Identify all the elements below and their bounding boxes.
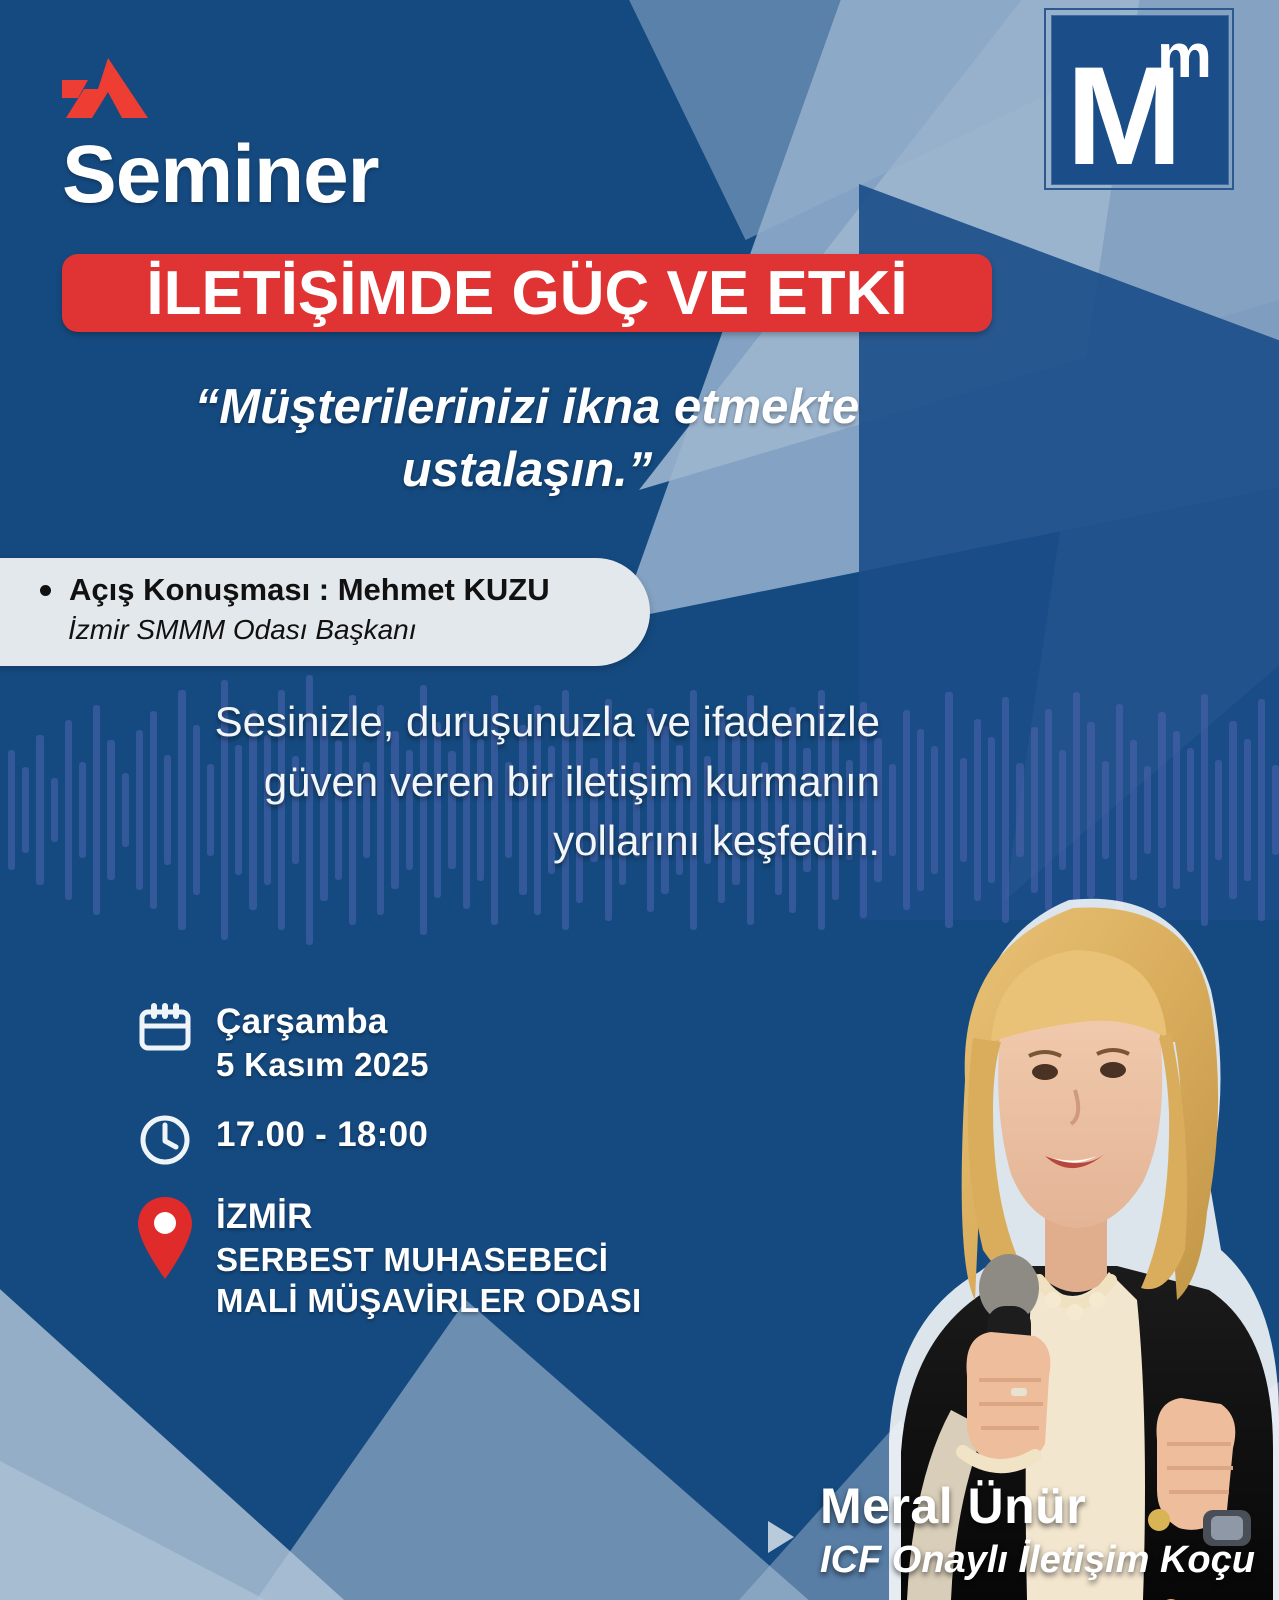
location-city: İZMİR [216,1195,642,1239]
page-kicker: Seminer [62,128,379,222]
organization-logo: M m [1044,8,1234,190]
opening-speech-subtitle: İzmir SMMM Odası Başkanı [0,614,650,646]
location-venue-line-2: MALİ MÜŞAVİRLER ODASI [216,1280,642,1321]
title-banner: İLETİŞİMDE GÜÇ VE ETKİ [62,254,992,332]
location-pin-icon [136,1195,194,1281]
time-range: 17.00 - 18:00 [216,1113,428,1157]
waveform-bar [22,767,29,853]
opening-speech-row: Açış Konuşması : Mehmet KUZU [0,572,650,608]
waveform-bar [36,735,43,885]
page-title: İLETİŞİMDE GÜÇ VE ETKİ [146,258,907,329]
description-text: Sesinizle, duruşunuzla ve ifadenizle güv… [70,692,880,871]
detail-text-date: Çarşamba 5 Kasım 2025 [216,1000,429,1085]
description-line-1: Sesinizle, duruşunuzla ve ifadenizle [70,692,880,752]
quote-line-2: ustalaşın.” [62,439,992,502]
speaker-credit: Meral Ünür ICF Onaylı İletişim Koçu [820,1477,1255,1582]
location-venue-line-1: SERBEST MUHASEBECİ [216,1239,642,1280]
red-arrow-logo-icon [62,56,148,128]
date-weekday: Çarşamba [216,1000,429,1044]
detail-text-location: İZMİR SERBEST MUHASEBECİ MALİ MÜŞAVİRLER… [216,1195,642,1321]
detail-row-location: İZMİR SERBEST MUHASEBECİ MALİ MÜŞAVİRLER… [136,1195,776,1321]
opening-speech-pill: Açış Konuşması : Mehmet KUZU İzmir SMMM … [0,558,650,666]
calendar-icon [136,1000,194,1054]
logo-inner-frame: M m [1051,15,1229,185]
bullet-icon [40,585,51,596]
opening-speech-label: Açış Konuşması : Mehmet KUZU [69,572,550,608]
detail-text-time: 17.00 - 18:00 [216,1113,428,1157]
quote-line-1: “Müşterilerinizi ikna etmekte [62,376,992,439]
speaker-name: Meral Ünür [820,1477,1255,1535]
description-line-2: güven veren bir iletişim kurmanın [70,752,880,812]
tagline-quote: “Müşterilerinizi ikna etmekte ustalaşın.… [62,376,992,501]
waveform-bar [51,778,58,842]
clock-icon [136,1113,194,1167]
seminar-poster: Seminer M m İLETİŞİMDE GÜÇ VE ETKİ “Müşt… [0,0,1279,1600]
date-full: 5 Kasım 2025 [216,1044,429,1085]
description-line-3: yollarını keşfedin. [70,811,880,871]
logo-letter-super: m [1157,26,1212,88]
play-triangle-icon [768,1521,794,1553]
waveform-bar [8,750,15,870]
detail-row-date: Çarşamba 5 Kasım 2025 [136,1000,776,1085]
event-details: Çarşamba 5 Kasım 2025 17.00 - 18:00 [136,1000,776,1349]
detail-row-time: 17.00 - 18:00 [136,1113,776,1167]
speaker-role: ICF Onaylı İletişim Koçu [820,1539,1255,1582]
